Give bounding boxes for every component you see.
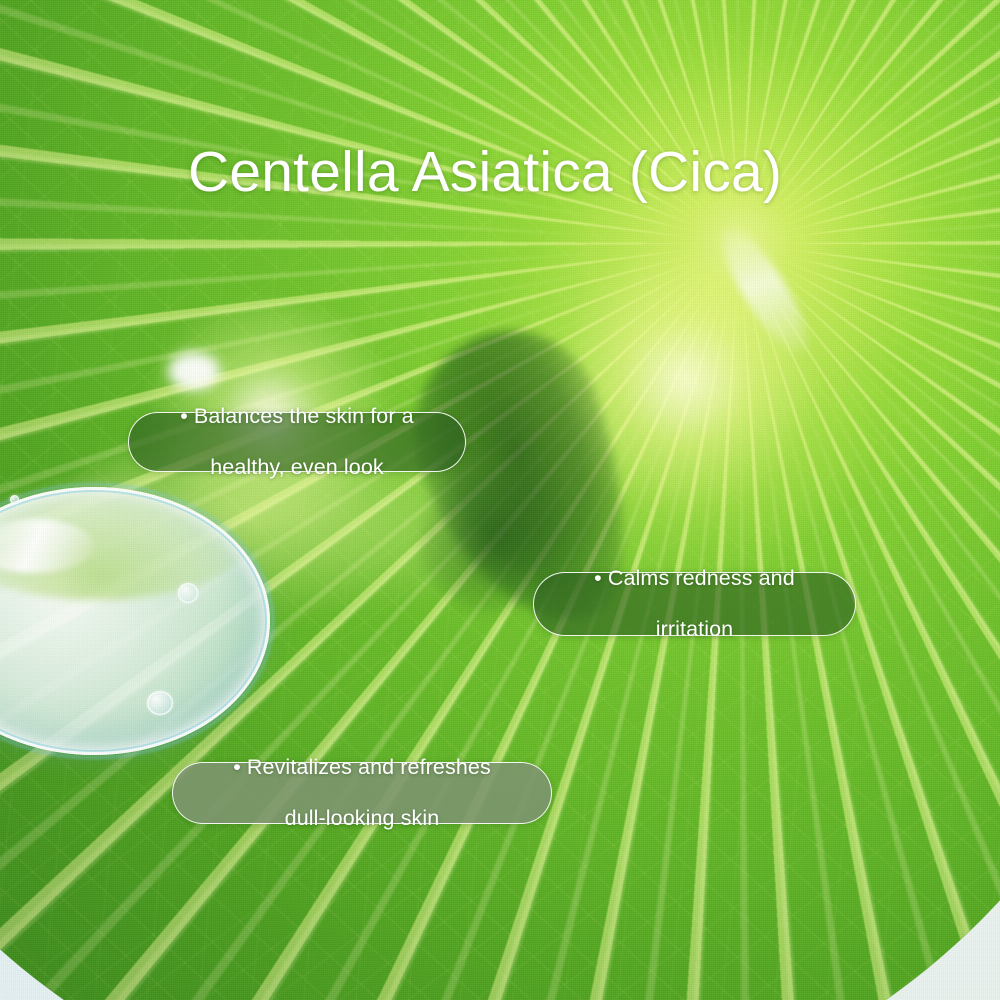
benefit-pill-revitalizes: • Revitalizes and refreshes dull-looking… xyxy=(172,762,552,824)
benefit-line-2: healthy, even look xyxy=(164,455,430,480)
droplet-bubble xyxy=(10,495,19,504)
page-title: Centella Asiatica (Cica) xyxy=(188,139,782,205)
droplet-bubble xyxy=(147,691,173,715)
benefit-line-1: • Balances the skin for a xyxy=(164,404,430,429)
benefit-text: • Calms redness and irritation xyxy=(562,566,827,642)
benefit-text: • Balances the skin for a healthy, even … xyxy=(148,404,446,480)
benefit-line-2: dull-looking skin xyxy=(217,806,507,831)
benefit-pill-calms: • Calms redness and irritation xyxy=(533,572,856,636)
water-droplet xyxy=(0,487,270,755)
benefit-pill-balances: • Balances the skin for a healthy, even … xyxy=(128,412,466,472)
product-ingredient-banner: Centella Asiatica (Cica) • Balances the … xyxy=(0,0,1000,1000)
leaf-glint-core xyxy=(168,352,220,390)
benefit-line-1: • Revitalizes and refreshes xyxy=(217,755,507,780)
benefit-text: • Revitalizes and refreshes dull-looking… xyxy=(201,755,523,831)
benefit-line-1: • Calms redness and xyxy=(578,566,811,591)
benefit-line-2: irritation xyxy=(578,617,811,642)
